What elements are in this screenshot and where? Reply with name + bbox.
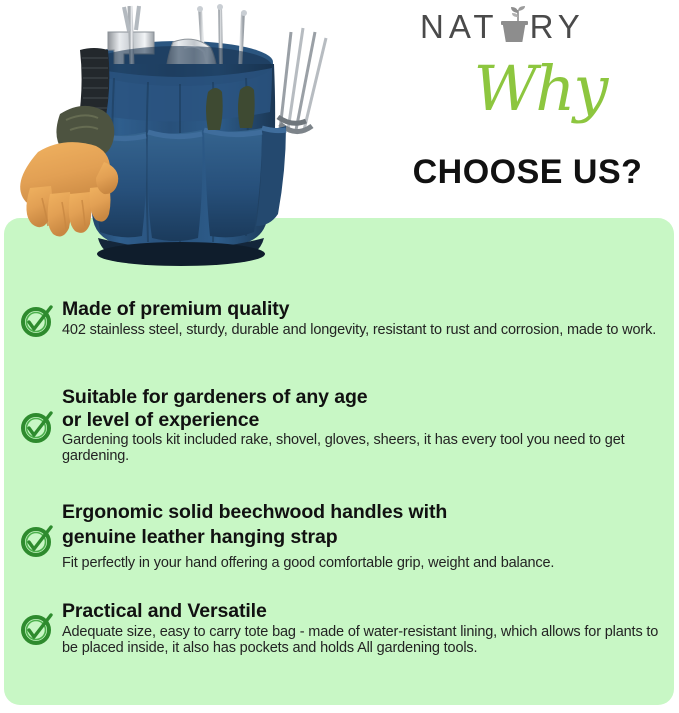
brand-logo: NAT RY	[420, 8, 585, 44]
plant-pot-sprout-icon	[500, 8, 529, 44]
feature-item: Ergonomic solid beechwood handles with g…	[4, 500, 674, 571]
feature-item: Made of premium quality 402 stainless st…	[4, 298, 674, 338]
feature-title: Made of premium quality	[62, 298, 664, 321]
why-script-heading: Why	[415, 58, 665, 120]
feature-description: Fit perfectly in your hand offering a go…	[62, 555, 664, 571]
feature-list: Made of premium quality 402 stainless st…	[4, 218, 674, 705]
green-check-circle-icon	[20, 612, 54, 646]
green-check-circle-icon	[20, 410, 54, 444]
feature-description: 402 stainless steel, sturdy, durable and…	[62, 322, 664, 338]
green-check-circle-icon	[20, 524, 54, 558]
promotional-infographic: NAT RY Why CHOOSE US? Made of premium qu…	[0, 0, 679, 713]
feature-title: Suitable for gardeners of any age or lev…	[62, 386, 664, 431]
feature-title: Ergonomic solid beechwood handles with g…	[62, 500, 664, 551]
feature-description: Adequate size, easy to carry tote bag - …	[62, 624, 664, 656]
green-check-circle-icon	[20, 304, 54, 338]
feature-item: Suitable for gardeners of any age or lev…	[4, 386, 674, 465]
feature-title: Practical and Versatile	[62, 600, 664, 623]
choose-us-heading: CHOOSE US?	[385, 155, 670, 189]
brand-text-after: RY	[530, 10, 585, 43]
feature-item: Practical and Versatile Adequate size, e…	[4, 600, 674, 656]
brand-text-before: NAT	[420, 10, 499, 43]
feature-description: Gardening tools kit included rake, shove…	[62, 432, 664, 464]
